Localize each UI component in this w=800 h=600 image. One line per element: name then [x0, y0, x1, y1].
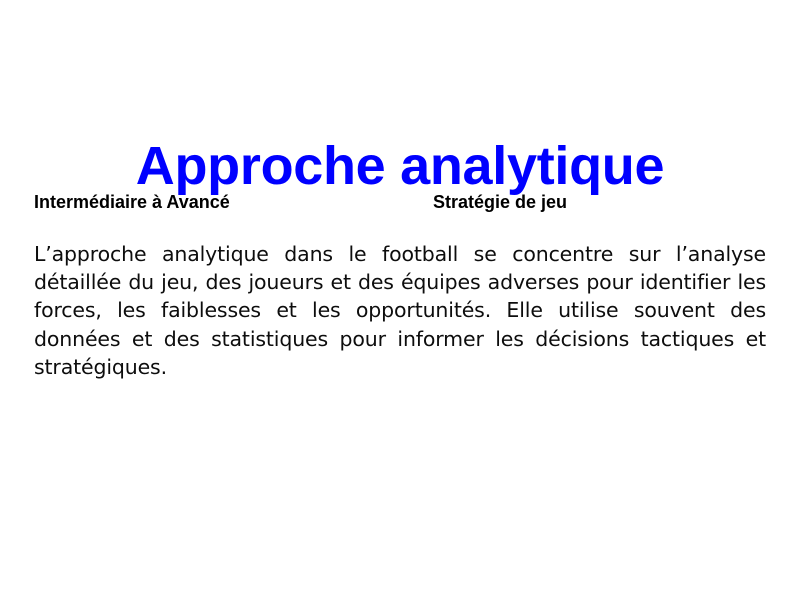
body-content: L’approche analytique dans le football s…: [34, 240, 766, 381]
difficulty-level-label: Intermédiaire à Avancé: [34, 190, 230, 214]
body-paragraph: L’approche analytique dans le football s…: [34, 240, 766, 381]
slide-meta-row: Intermédiaire à Avancé Stratégie de jeu: [34, 190, 766, 216]
topic-category-label: Stratégie de jeu: [433, 190, 567, 214]
slide-canvas: Approche analytique Intermédiaire à Avan…: [0, 0, 800, 600]
page-title: Approche analytique: [0, 135, 800, 197]
